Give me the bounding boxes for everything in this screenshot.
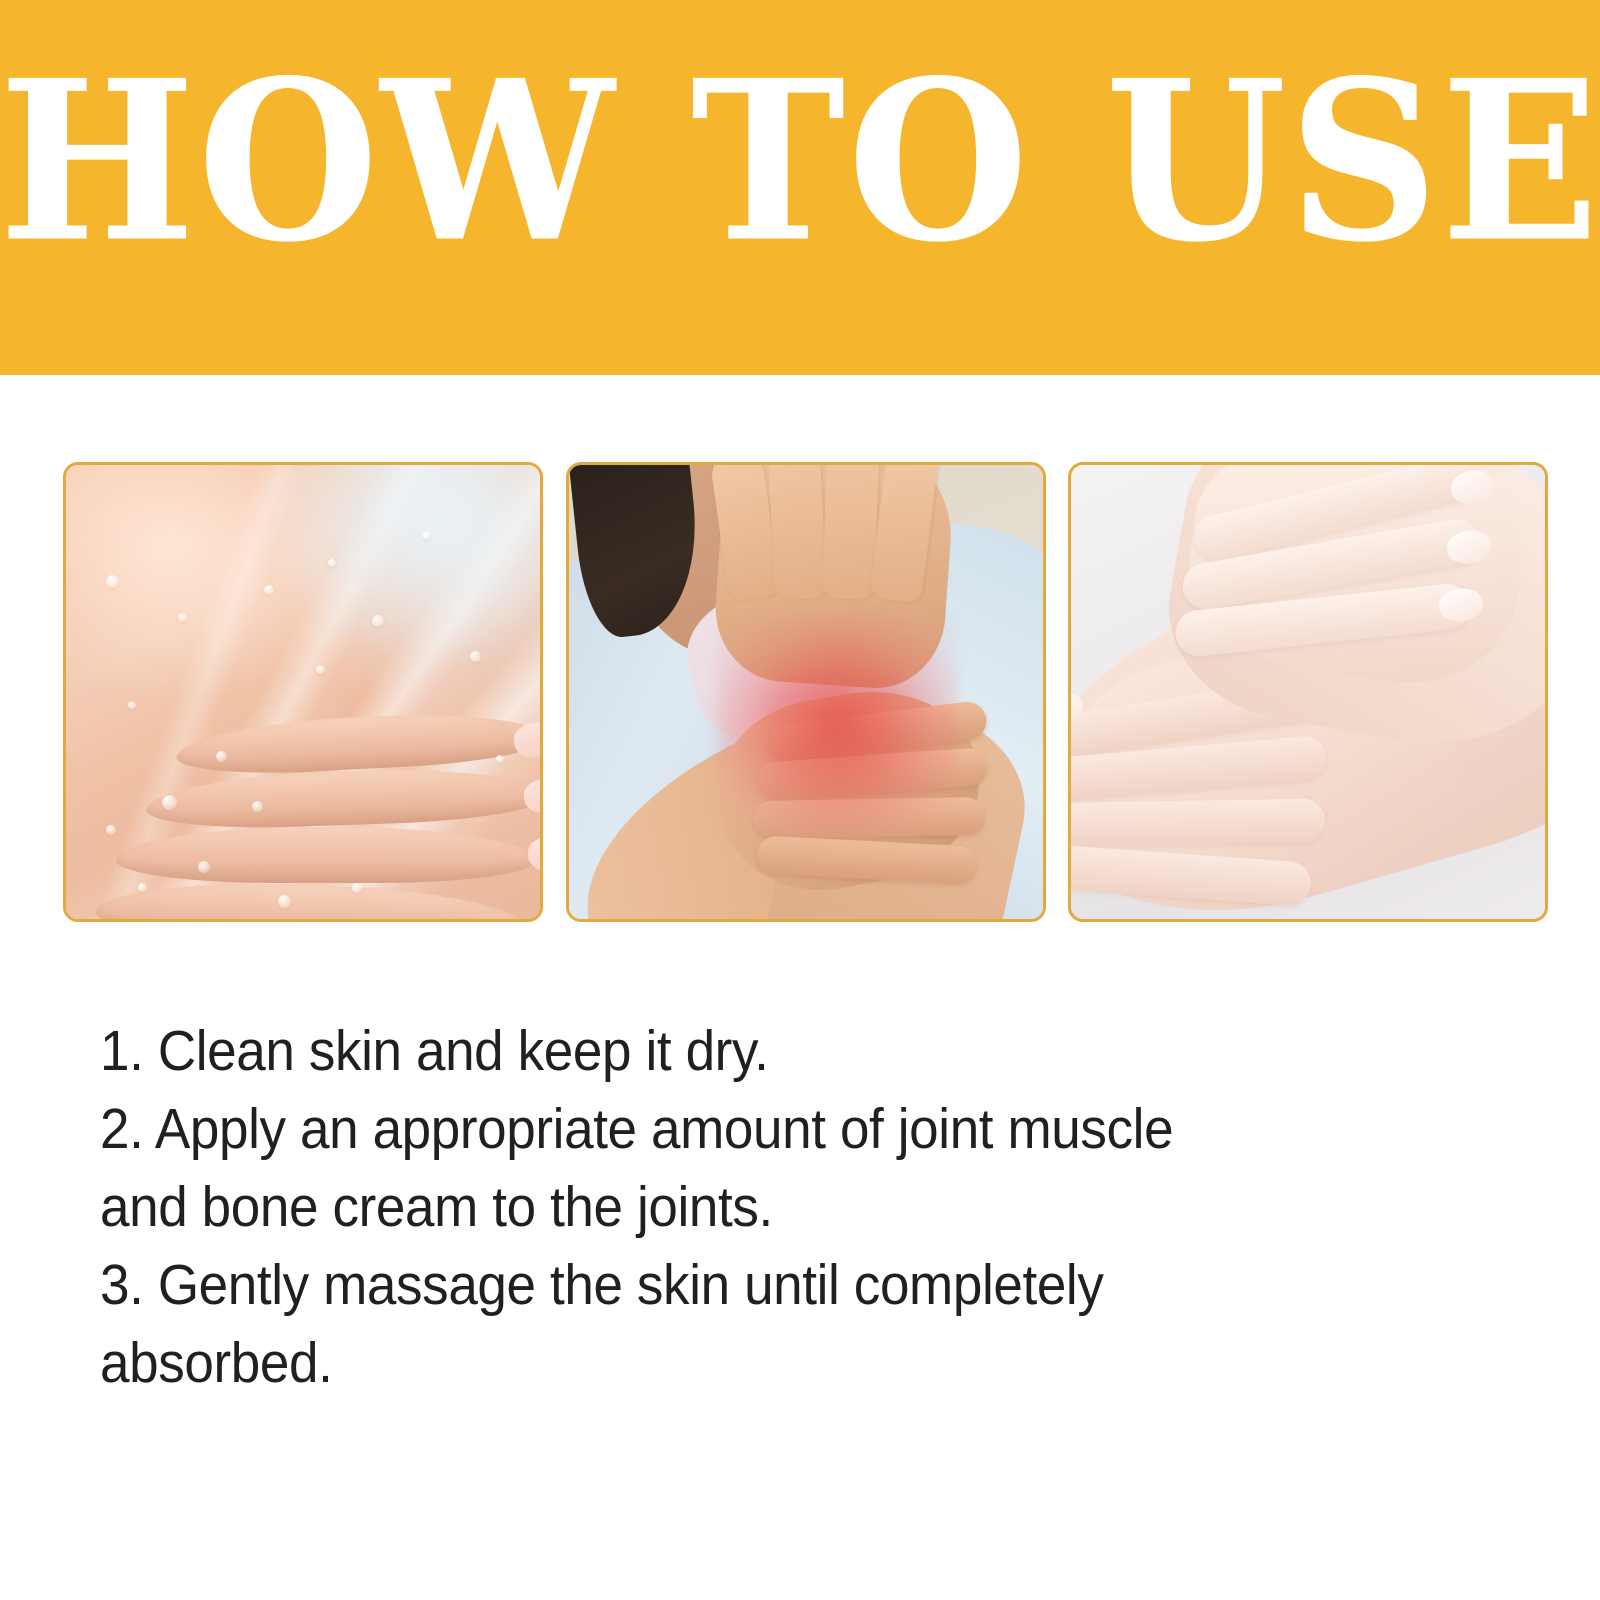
photo-joint-pain-image [569,465,1043,919]
photo-massage-absorb-image [1071,465,1545,919]
instruction-line-2: 2. Apply an appropriate amount of joint … [100,1090,1402,1168]
instruction-line-1: 1. Clean skin and keep it dry. [100,1012,1402,1090]
instruction-line-3: and bone cream to the joints. [100,1168,1402,1246]
instruction-line-4: 3. Gently massage the skin until complet… [100,1246,1402,1324]
upper-hand-fingers [715,465,965,589]
photo-gallery [63,462,1548,922]
instruction-list: 1. Clean skin and keep it dry. 2. Apply … [100,1012,1500,1402]
upper-hand-fingers [1181,475,1541,695]
photo-card-joint-pain[interactable] [566,462,1046,922]
header-band: HOW TO USE [0,0,1600,375]
pain-highlight-overlay [717,615,957,835]
page-title: HOW TO USE [0,52,1600,272]
water-droplets-group [66,465,540,919]
photo-card-massage-absorb[interactable] [1068,462,1548,922]
instruction-line-5: absorbed. [100,1324,1402,1402]
photo-clean-skin-image [66,465,540,919]
photo-card-clean-skin[interactable] [63,462,543,922]
